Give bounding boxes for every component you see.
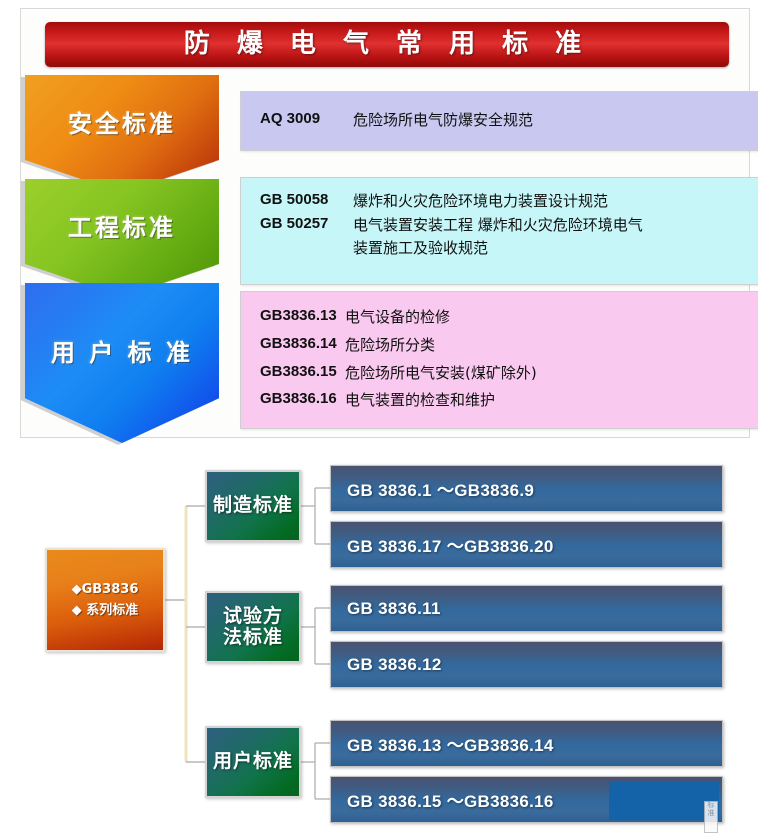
tree-leaf-label: GB 3836.13 ～GB3836.14	[331, 731, 554, 756]
standard-row: AQ 3009 危险场所电气防爆安全规范	[241, 108, 758, 134]
standard-row: GB 50058 爆炸和火灾危险环境电力装置设计规范	[241, 190, 758, 214]
standard-row: GB 50257 电气装置安装工程 爆炸和火灾危险环境电气	[241, 214, 758, 238]
chevron-label: 安全标准	[68, 104, 176, 139]
tree-root-gb3836[interactable]: ◆GB3836 ◆ 系列标准	[45, 548, 165, 652]
tree-leaf-item[interactable]: GB 3836.12	[330, 641, 723, 688]
chevron-safety-standards: 安全标准	[25, 75, 219, 193]
tree-root-line-1: ◆GB3836	[72, 579, 139, 600]
page-title: 防 爆 电 气 常 用 标 准	[45, 22, 729, 67]
standard-name: 危险场所分类	[345, 335, 435, 357]
tree-leaf-item[interactable]: GB 3836.17 ～GB3836.20	[330, 521, 723, 568]
tree-category-label: 试验方法标准	[223, 606, 283, 649]
standards-overview-card: 防 爆 电 气 常 用 标 准 AQ 3009 危险场所电气防爆安全规范 GB …	[20, 8, 750, 438]
standard-row: GB3836.14 危险场所分类	[241, 332, 758, 360]
tree-category-test-methods[interactable]: 试验方法标准	[205, 591, 301, 663]
standard-name: 电气装置安装工程 爆炸和火灾危险环境电气	[353, 215, 643, 237]
chevron-user-standards: 用 户 标 准	[25, 283, 219, 443]
standard-code: GB3836.13	[241, 307, 345, 324]
tree-leaf-label: GB 3836.1 ～GB3836.9	[331, 476, 534, 501]
standard-name-continuation: 装置施工及验收规范	[241, 238, 758, 260]
standard-code: GB3836.15	[241, 363, 345, 380]
standard-name: 电气设备的检修	[345, 307, 450, 329]
tree-leaf-label: GB 3836.11	[331, 599, 441, 619]
standard-name: 危险场所电气防爆安全规范	[353, 110, 533, 132]
chevron-engineering-standards: 工程标准	[25, 179, 219, 297]
standard-code: GB3836.14	[241, 335, 345, 352]
tree-leaf-label: GB 3836.12	[331, 655, 442, 675]
leaf-overlay-patch	[609, 781, 719, 820]
panel-user-standards: GB3836.13 电气设备的检修 GB3836.14 危险场所分类 GB383…	[240, 291, 758, 429]
tree-category-manufacturing[interactable]: 制造标准	[205, 470, 301, 542]
tree-category-label-line-2: 法标准	[223, 626, 283, 648]
standard-name: 电气装置的检查和维护	[345, 390, 495, 412]
gb3836-series-tree: ◆GB3836 ◆ 系列标准 制造标准 试验方法标准 用户标准 GB 3836.…	[0, 445, 758, 837]
title-banner: 防 爆 电 气 常 用 标 准	[45, 22, 729, 67]
standard-row: GB3836.15 危险场所电气安装(煤矿除外)	[241, 360, 758, 388]
tree-leaf-item[interactable]: GB 3836.1 ～GB3836.9	[330, 465, 723, 512]
standard-row: GB3836.13 电气设备的检修	[241, 304, 758, 332]
chevron-label: 工程标准	[68, 208, 176, 243]
standard-code: GB 50058	[241, 191, 353, 208]
panel-engineering-standards: GB 50058 爆炸和火灾危险环境电力装置设计规范 GB 50257 电气装置…	[240, 177, 758, 285]
watermark-label: 标准	[704, 801, 718, 833]
tree-leaf-label: GB 3836.17 ～GB3836.20	[331, 532, 554, 557]
tree-category-label: 用户标准	[213, 751, 293, 772]
standard-name: 爆炸和火灾危险环境电力装置设计规范	[353, 191, 608, 213]
tree-leaf-item[interactable]: GB 3836.15 ～GB3836.16 标准	[330, 776, 723, 823]
standard-code: GB3836.16	[241, 390, 345, 407]
standard-row: GB3836.16 电气装置的检查和维护	[241, 387, 758, 415]
panel-safety-standards: AQ 3009 危险场所电气防爆安全规范	[240, 91, 758, 151]
tree-category-label: 制造标准	[213, 495, 293, 516]
chevron-label: 用 户 标 准	[51, 333, 193, 368]
standard-name: 危险场所电气安装(煤矿除外)	[345, 363, 537, 385]
standard-code: AQ 3009	[241, 110, 353, 127]
tree-root-line-2: ◆ 系列标准	[72, 600, 139, 621]
tree-category-label-line-1: 试验方	[223, 605, 283, 627]
tree-leaf-label: GB 3836.15 ～GB3836.16	[331, 787, 554, 812]
tree-leaf-item[interactable]: GB 3836.13 ～GB3836.14	[330, 720, 723, 767]
standard-code: GB 50257	[241, 215, 353, 232]
tree-leaf-item[interactable]: GB 3836.11	[330, 585, 723, 632]
tree-category-user[interactable]: 用户标准	[205, 726, 301, 798]
